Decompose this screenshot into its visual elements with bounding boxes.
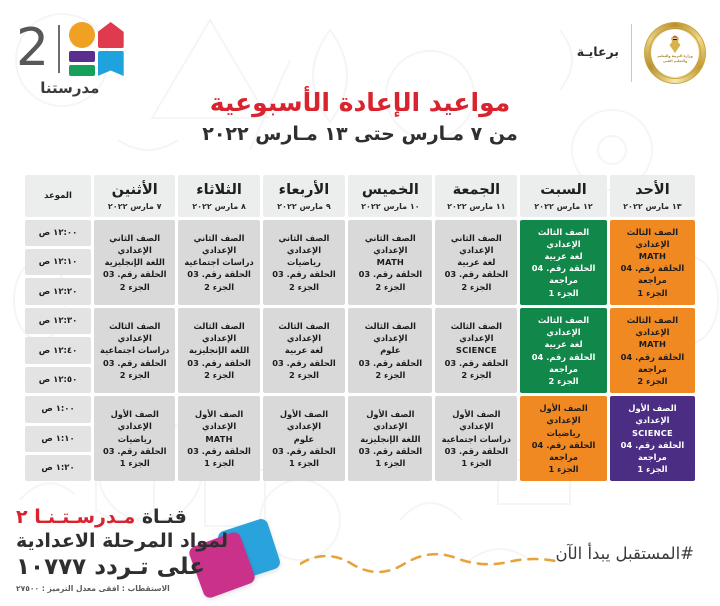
program-subject: MATH [612, 338, 693, 350]
program-episode: الحلقة رقم. 04 مراجعة [612, 262, 693, 286]
program-part: الجزء 2 [96, 369, 173, 381]
program-cell-r1-c5: الصف الثاني الإعداديرياضياتالحلقة رقم. 0… [263, 220, 346, 305]
day-header-6: الثلاثاء٨ مارس ٢٠٢٢ [178, 175, 259, 217]
day-date: ١٣ مارس ٢٠٢٢ [612, 202, 693, 211]
program-part: الجزء 2 [265, 281, 344, 293]
schedule-table-body: الصف الثالث الإعداديMATHالحلقة رقم. 04 م… [25, 220, 695, 482]
page-subtitle-daterange: من ٧ مـارس حتى ١٣ مـارس ٢٠٢٢ [0, 123, 720, 145]
title-block: مواعيد الإعادة الأسبوعية من ٧ مـارس حتى … [0, 88, 720, 145]
program-grade: الصف الأول الإعدادي [437, 408, 515, 432]
logo-purple-bar [69, 51, 95, 62]
program-part: الجزء 1 [437, 457, 515, 469]
schedule-table: الأحد١٣ مارس ٢٠٢٢السبت١٢ مارس ٢٠٢٢الجمعة… [22, 172, 698, 484]
program-episode: الحلقة رقم. 04 مراجعة [522, 351, 605, 375]
patronage-label: برعايـة [577, 44, 619, 63]
channel-technical-details: الاستقطاب : افقى معدل الترميز : ٢٧٥٠٠ [16, 584, 228, 593]
time-slot: ١٢:٣٠ ص [25, 308, 91, 334]
day-date: ٧ مارس ٢٠٢٢ [96, 202, 173, 211]
program-part: الجزء 1 [612, 463, 693, 475]
day-header-row: الأحد١٣ مارس ٢٠٢٢السبت١٢ مارس ٢٠٢٢الجمعة… [25, 175, 695, 217]
schedule-table-container: الأحد١٣ مارس ٢٠٢٢السبت١٢ مارس ٢٠٢٢الجمعة… [0, 172, 720, 484]
program-subject: لغة عربية [265, 344, 344, 356]
time-column-header: الموعد [25, 175, 91, 217]
program-grade: الصف الأول الإعدادي [350, 408, 430, 432]
time-slot: ١٢:٠٠ ص [25, 220, 91, 246]
ministry-emblem-icon: وزارة التربية والتعليم والتعليم الفني [644, 22, 706, 84]
time-slot: ١٢:٢٠ ص [25, 278, 91, 304]
day-date: ٩ مارس ٢٠٢٢ [265, 202, 344, 211]
program-subject: دراسات اجتماعية [180, 256, 257, 268]
program-episode: الحلقة رقم. 03 [180, 357, 257, 369]
day-header-1: الأحد١٣ مارس ٢٠٢٢ [610, 175, 695, 217]
program-grade: الصف الأول الإعدادي [96, 408, 173, 432]
program-grade: الصف الأول الإعدادي [522, 402, 605, 426]
day-header-3: الجمعة١١ مارس ٢٠٢٢ [435, 175, 517, 217]
program-grade: الصف الأول الإعدادي [612, 402, 693, 426]
program-part: الجزء 1 [522, 463, 605, 475]
program-episode: الحلقة رقم. 03 [265, 357, 344, 369]
day-name: الثلاثاء [180, 182, 257, 199]
program-part: الجزء 2 [437, 281, 515, 293]
program-cell-r2-c6: الصف الثالث الإعدادياللغة الإنجليزيةالحل… [178, 308, 259, 393]
program-part: الجزء 2 [350, 281, 430, 293]
program-episode: الحلقة رقم. 03 [350, 357, 430, 369]
program-subject: لغة عربية [437, 256, 515, 268]
channel-info-line-2: لمواد المرحلة الاعدادية [16, 530, 228, 552]
program-episode: الحلقة رقم. 03 [437, 445, 515, 457]
eagle-of-saladin-icon [667, 34, 684, 54]
day-date: ١٠ مارس ٢٠٢٢ [350, 202, 430, 211]
program-cell-r2-c1: الصف الثالث الإعداديMATHالحلقة رقم. 04 م… [610, 308, 695, 393]
channel-number: 2 [16, 25, 49, 73]
program-cell-r1-c1: الصف الثالث الإعداديMATHالحلقة رقم. 04 م… [610, 220, 695, 305]
program-subject: دراسات اجتماعية [437, 433, 515, 445]
program-part: الجزء 2 [437, 369, 515, 381]
program-episode: الحلقة رقم. 03 [437, 268, 515, 280]
program-cell-r3-c4: الصف الأول الإعدادياللغة الإنجليزيةالحلق… [348, 396, 432, 481]
day-header-7: الأثنين٧ مارس ٢٠٢٢ [94, 175, 175, 217]
schedule-row: الصف الأول الإعداديSCIENCEالحلقة رقم. 04… [25, 396, 695, 422]
time-slot: ١٢:٥٠ ص [25, 367, 91, 393]
program-grade: الصف الثالث الإعدادي [612, 226, 693, 250]
program-part: الجزء 1 [265, 457, 344, 469]
program-cell-r2-c4: الصف الثالث الإعداديعلومالحلقة رقم. 03ال… [348, 308, 432, 393]
channel-info-line-1: قنـاة مـدرسـتـنـا ٢ [16, 506, 228, 528]
program-subject: رياضيات [96, 433, 173, 445]
program-part: الجزء 1 [350, 457, 430, 469]
program-subject: اللغة الإنجليزية [180, 344, 257, 356]
channel-info-accent: مـدرسـتـنـا ٢ [16, 506, 135, 528]
day-header-4: الخميس١٠ مارس ٢٠٢٢ [348, 175, 432, 217]
program-episode: الحلقة رقم. 03 [180, 445, 257, 457]
program-cell-r3-c5: الصف الأول الإعداديعلومالحلقة رقم. 03الج… [263, 396, 346, 481]
program-episode: الحلقة رقم. 03 [437, 357, 515, 369]
program-grade: الصف الثاني الإعدادي [350, 232, 430, 256]
schedule-row: الصف الثالث الإعداديMATHالحلقة رقم. 04 م… [25, 220, 695, 246]
program-cell-r2-c3: الصف الثالث الإعداديSCIENCEالحلقة رقم. 0… [435, 308, 517, 393]
program-part: الجزء 1 [180, 457, 257, 469]
program-episode: الحلقة رقم. 03 [96, 357, 173, 369]
page-title: مواعيد الإعادة الأسبوعية [0, 88, 720, 117]
program-cell-r1-c6: الصف الثاني الإعداديدراسات اجتماعيةالحلق… [178, 220, 259, 305]
program-cell-r3-c7: الصف الأول الإعداديرياضياتالحلقة رقم. 03… [94, 396, 175, 481]
time-slot: ١٢:١٠ ص [25, 249, 91, 275]
program-cell-r3-c1: الصف الأول الإعداديSCIENCEالحلقة رقم. 04… [610, 396, 695, 481]
program-episode: الحلقة رقم. 03 [96, 268, 173, 280]
dashed-wave-divider [300, 548, 560, 578]
day-date: ١٢ مارس ٢٠٢٢ [522, 202, 605, 211]
program-cell-r1-c4: الصف الثاني الإعداديMATHالحلقة رقم. 03ال… [348, 220, 432, 305]
program-grade: الصف الثالث الإعدادي [522, 314, 605, 338]
program-grade: الصف الثالث الإعدادي [265, 320, 344, 344]
logo-circle-shape [69, 22, 95, 48]
logo-bookmark-shape [98, 51, 124, 76]
program-part: الجزء 2 [265, 369, 344, 381]
program-grade: الصف الثاني الإعدادي [96, 232, 173, 256]
program-cell-r2-c7: الصف الثالث الإعداديدراسات اجتماعيةالحلق… [94, 308, 175, 393]
program-part: الجزء 2 [180, 281, 257, 293]
program-subject: اللغة الإنجليزية [350, 433, 430, 445]
program-part: الجزء 2 [350, 369, 430, 381]
day-name: الجمعة [437, 182, 515, 199]
program-grade: الصف الثالث الإعدادي [350, 320, 430, 344]
program-subject: SCIENCE [437, 344, 515, 356]
program-subject: SCIENCE [612, 427, 693, 439]
program-cell-r3-c2: الصف الأول الإعداديرياضياتالحلقة رقم. 04… [520, 396, 607, 481]
program-episode: الحلقة رقم. 03 [96, 445, 173, 457]
time-slot: ١:١٠ ص [25, 426, 91, 452]
page-header: وزارة التربية والتعليم والتعليم الفني بر… [0, 0, 720, 172]
emblem-inner-text: وزارة التربية والتعليم والتعليم الفني [655, 54, 695, 63]
program-subject: رياضيات [265, 256, 344, 268]
day-name: الخميس [350, 182, 430, 199]
program-cell-r1-c2: الصف الثالث الإعداديلغة عربيةالحلقة رقم.… [520, 220, 607, 305]
day-name: الأثنين [96, 182, 173, 199]
day-header-5: الأربعاء٩ مارس ٢٠٢٢ [263, 175, 346, 217]
ministry-branding: وزارة التربية والتعليم والتعليم الفني بر… [577, 22, 706, 84]
channel-branding: 2 مدرستنا [16, 22, 124, 97]
program-episode: الحلقة رقم. 04 مراجعة [612, 351, 693, 375]
program-episode: الحلقة رقم. 04 مراجعة [522, 439, 605, 463]
program-grade: الصف الثالث الإعدادي [180, 320, 257, 344]
program-subject: لغة عربية [522, 338, 605, 350]
day-name: الأربعاء [265, 182, 344, 199]
program-part: الجزء 1 [522, 287, 605, 299]
time-slot: ١٢:٤٠ ص [25, 337, 91, 363]
infographic-page: وزارة التربية والتعليم والتعليم الفني بر… [0, 0, 720, 606]
program-subject: رياضيات [522, 427, 605, 439]
program-grade: الصف الثالث الإعدادي [522, 226, 605, 250]
program-episode: الحلقة رقم. 04 مراجعة [522, 262, 605, 286]
day-date: ٨ مارس ٢٠٢٢ [180, 202, 257, 211]
program-grade: الصف الثالث الإعدادي [96, 320, 173, 344]
program-subject: علوم [265, 433, 344, 445]
program-cell-r3-c6: الصف الأول الإعداديMATHالحلقة رقم. 03الج… [178, 396, 259, 481]
program-episode: الحلقة رقم. 03 [350, 445, 430, 457]
program-grade: الصف الأول الإعدادي [265, 408, 344, 432]
program-part: الجزء 2 [96, 281, 173, 293]
program-grade: الصف الثالث الإعدادي [612, 314, 693, 338]
header-divider [631, 24, 632, 82]
program-part: الجزء 1 [96, 457, 173, 469]
program-cell-r2-c5: الصف الثالث الإعداديلغة عربيةالحلقة رقم.… [263, 308, 346, 393]
schedule-row: الصف الثالث الإعداديMATHالحلقة رقم. 04 م… [25, 308, 695, 334]
channel-frequency-block: قنـاة مـدرسـتـنـا ٢ لمواد المرحلة الاعدا… [16, 506, 228, 593]
program-subject: MATH [350, 256, 430, 268]
channel-frequency: على تـردد ١٠٧٧٧ [16, 554, 228, 580]
program-grade: الصف الأول الإعدادي [180, 408, 257, 432]
day-header-2: السبت١٢ مارس ٢٠٢٢ [520, 175, 607, 217]
day-name: السبت [522, 182, 605, 199]
program-grade: الصف الثاني الإعدادي [437, 232, 515, 256]
day-name: الأحد [612, 182, 693, 199]
logo-green-bar [69, 65, 95, 76]
program-cell-r1-c7: الصف الثاني الإعدادياللغة الإنجليزيةالحل… [94, 220, 175, 305]
time-slot: ١:٢٠ ص [25, 455, 91, 481]
program-episode: الحلقة رقم. 04 مراجعة [612, 439, 693, 463]
program-grade: الصف الثاني الإعدادي [265, 232, 344, 256]
program-cell-r3-c3: الصف الأول الإعداديدراسات اجتماعيةالحلقة… [435, 396, 517, 481]
program-episode: الحلقة رقم. 03 [180, 268, 257, 280]
channel-logo-divider [58, 25, 60, 73]
program-subject: دراسات اجتماعية [96, 344, 173, 356]
program-episode: الحلقة رقم. 03 [265, 268, 344, 280]
program-part: الجزء 1 [612, 287, 693, 299]
program-subject: MATH [180, 433, 257, 445]
campaign-hashtag: #المستقبل يبدأ الآن [555, 544, 694, 563]
program-episode: الحلقة رقم. 03 [350, 268, 430, 280]
program-grade: الصف الثالث الإعدادي [437, 320, 515, 344]
program-part: الجزء 2 [612, 375, 693, 387]
time-slot: ١:٠٠ ص [25, 396, 91, 422]
program-subject: MATH [612, 250, 693, 262]
channel-info-prefix: قنـاة [135, 506, 187, 528]
program-cell-r1-c3: الصف الثاني الإعداديلغة عربيةالحلقة رقم.… [435, 220, 517, 305]
logo-house-shape [98, 22, 124, 48]
schedule-table-head: الأحد١٣ مارس ٢٠٢٢السبت١٢ مارس ٢٠٢٢الجمعة… [25, 175, 695, 217]
page-footer: #المستقبل يبدأ الآن قنـاة مـدرسـتـنـا ٢ … [0, 496, 720, 606]
program-subject: اللغة الإنجليزية [96, 256, 173, 268]
program-part: الجزء 2 [180, 369, 257, 381]
program-part: الجزء 2 [522, 375, 605, 387]
program-grade: الصف الثاني الإعدادي [180, 232, 257, 256]
program-cell-r2-c2: الصف الثالث الإعداديلغة عربيةالحلقة رقم.… [520, 308, 607, 393]
day-date: ١١ مارس ٢٠٢٢ [437, 202, 515, 211]
madrasatna-logo-icon [69, 22, 124, 76]
program-episode: الحلقة رقم. 03 [265, 445, 344, 457]
program-subject: علوم [350, 344, 430, 356]
program-subject: لغة عربية [522, 250, 605, 262]
